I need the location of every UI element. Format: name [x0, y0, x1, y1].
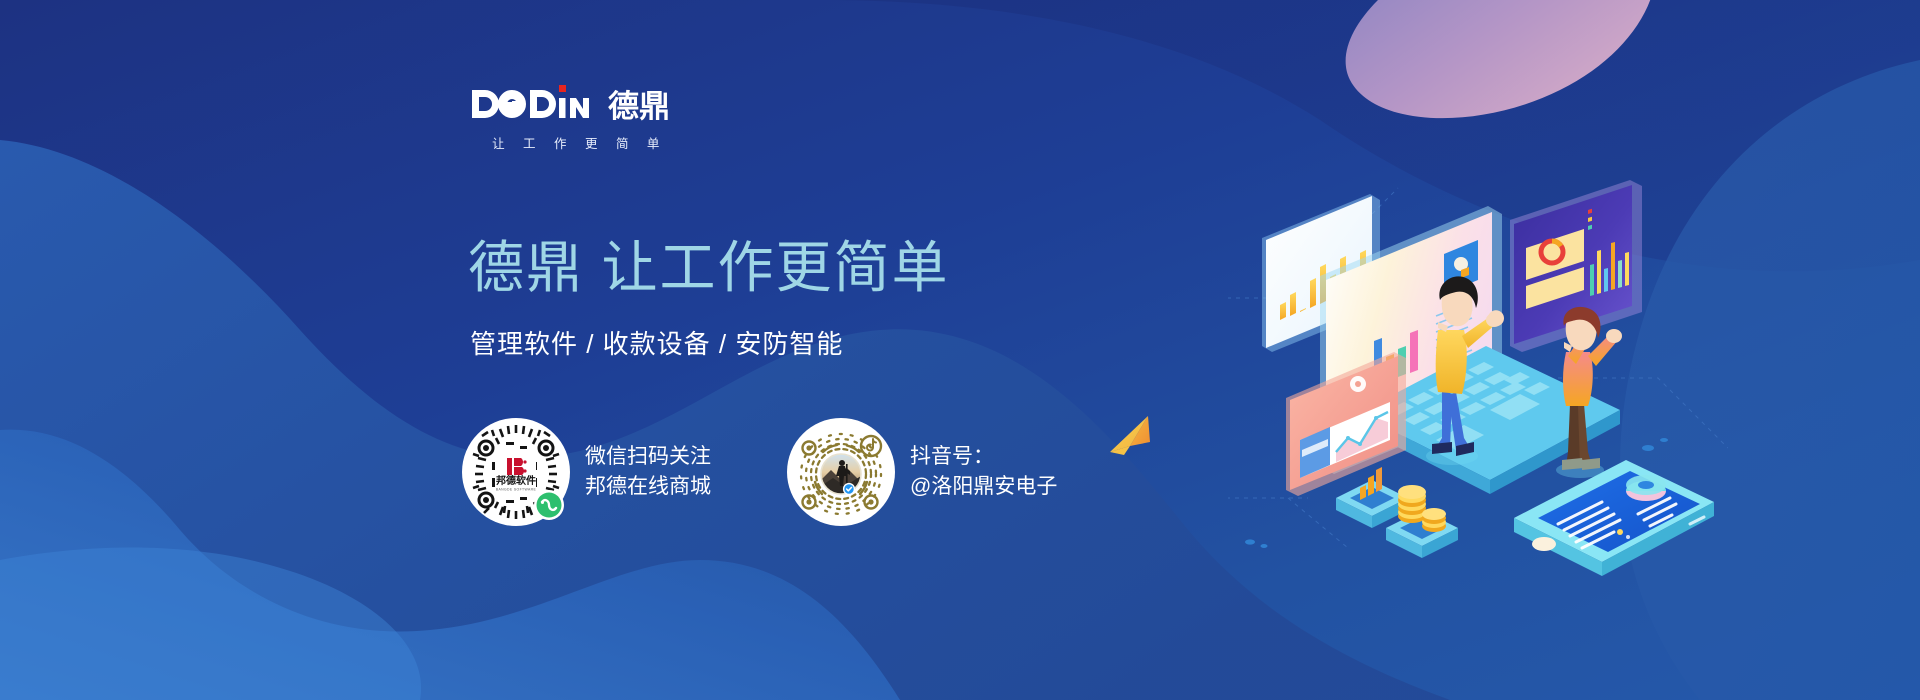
qr-caption-line1: 抖音号：	[910, 442, 1057, 472]
qr-caption-line2: @洛阳鼎安电子	[910, 472, 1057, 502]
settings-chart-card	[1286, 352, 1406, 496]
logo-row: 德鼎	[470, 80, 730, 124]
logo-red-dot	[559, 85, 566, 92]
qr-caption-line2: 邦德在线商城	[585, 472, 711, 502]
qr-code-row: 邦德软件 BANGDE SOFTWARE 微信扫码关注 邦德在线商城	[462, 418, 1057, 526]
page-title: 德鼎 让工作更简单	[468, 239, 950, 298]
svg-text:BANGDE SOFTWARE: BANGDE SOFTWARE	[496, 488, 537, 492]
douyin-verified-badge	[844, 484, 855, 495]
svg-text:邦德软件: 邦德软件	[496, 474, 536, 487]
brand-logo[interactable]: 德鼎 让 工 作 更 简 单	[470, 80, 730, 152]
promo-banner: 德鼎 让 工 作 更 简 单 德鼎 让工作更简单 管理软件 / 收款设备 / 安…	[0, 0, 1920, 700]
qr-caption-wechat: 微信扫码关注 邦德在线商城	[585, 442, 711, 502]
qr-item-wechat[interactable]: 邦德软件 BANGDE SOFTWARE 微信扫码关注 邦德在线商城	[462, 418, 711, 526]
qr-caption-line1: 微信扫码关注	[585, 442, 711, 472]
bar-chart-blocks	[1336, 467, 1408, 528]
tablet-device	[1514, 460, 1714, 576]
logo-chinese-text: 德鼎	[608, 91, 670, 122]
mini-program-badge	[534, 490, 564, 520]
isometric-data-analytics-illustration	[1228, 148, 1728, 618]
logo-tagline: 让 工 作 更 简 单	[470, 133, 685, 152]
logo-wordmark-deding	[470, 80, 602, 124]
qr-caption-douyin: 抖音号： @洛阳鼎安电子	[910, 442, 1057, 502]
wechat-mini-program-qr-icon[interactable]: 邦德软件 BANGDE SOFTWARE	[462, 418, 570, 526]
page-subtitle: 管理软件 / 收款设备 / 安防智能	[470, 324, 843, 361]
douyin-qr-icon[interactable]	[787, 418, 895, 526]
paper-plane-icon	[1104, 408, 1166, 468]
qr-item-douyin[interactable]: 抖音号： @洛阳鼎安电子	[787, 418, 1057, 526]
